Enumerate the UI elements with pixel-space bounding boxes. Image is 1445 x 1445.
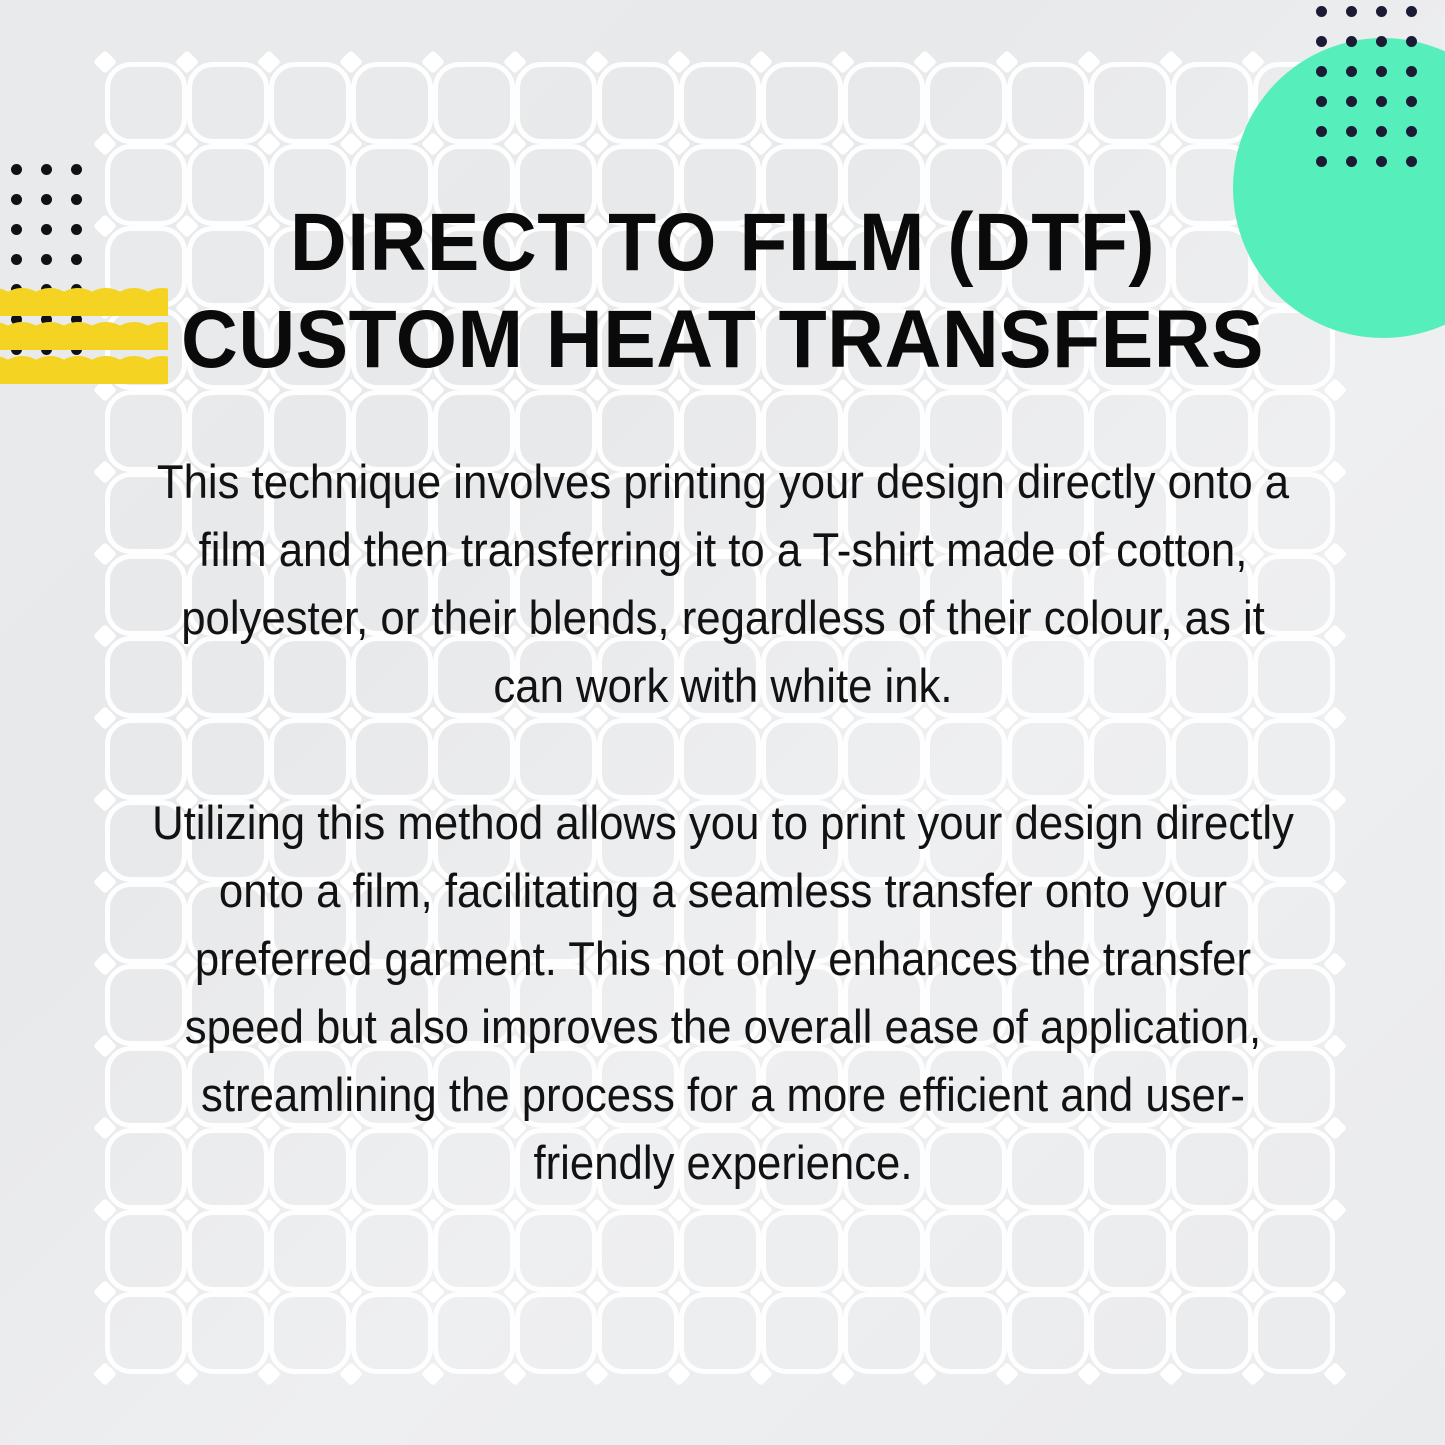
body-copy: This technique involves printing your de… <box>142 448 1305 1197</box>
body-paragraph-2: Utilizing this method allows you to prin… <box>142 789 1305 1198</box>
page-title: DIRECT TO FILM (DTF) CUSTOM HEAT TRANSFE… <box>144 195 1301 389</box>
body-paragraph-1: This technique involves printing your de… <box>142 448 1305 721</box>
page-title-line-2: CUSTOM HEAT TRANSFERS <box>144 292 1301 389</box>
page-title-line-1: DIRECT TO FILM (DTF) <box>144 195 1301 292</box>
content-layer: DIRECT TO FILM (DTF) CUSTOM HEAT TRANSFE… <box>0 0 1445 1445</box>
poster-canvas: DIRECT TO FILM (DTF) CUSTOM HEAT TRANSFE… <box>0 0 1445 1445</box>
